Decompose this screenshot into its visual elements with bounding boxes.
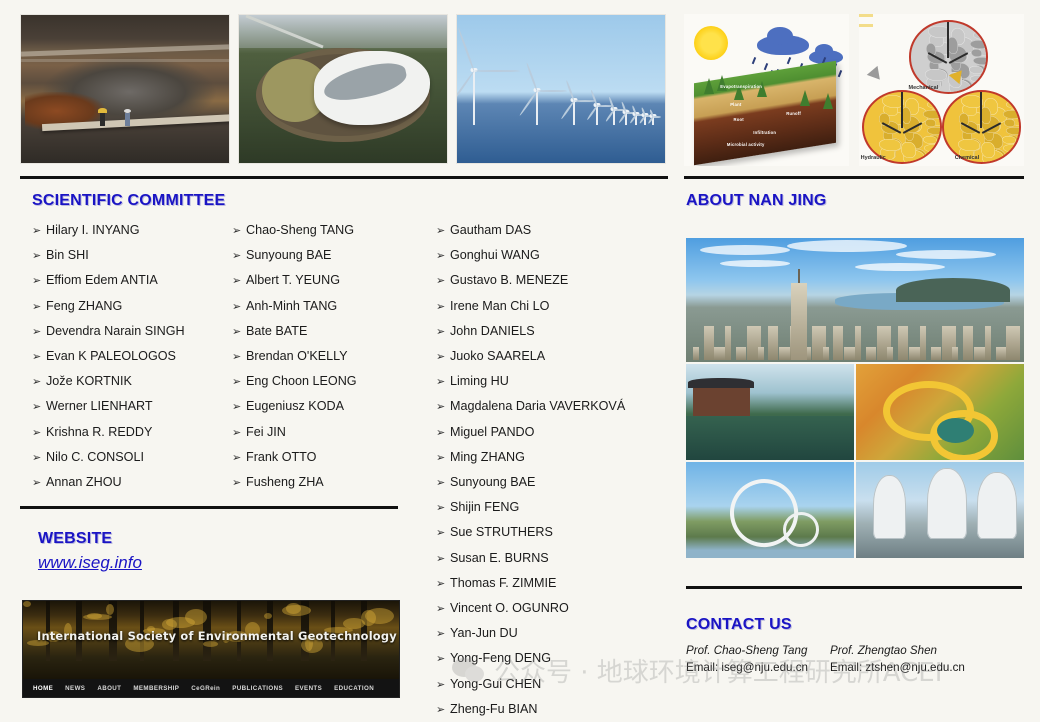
contact-name: Prof. Zhengtao Shen	[830, 642, 965, 659]
diagram-label: Root	[734, 117, 744, 122]
committee-member: ➢Irene Man Chi LO	[436, 294, 686, 319]
committee-member-name: Magdalena Daria VAVERKOVÁ	[450, 394, 625, 418]
committee-member-name: Brendan O'KELLY	[246, 344, 348, 368]
bullet-arrow-icon: ➢	[232, 345, 246, 369]
committee-member: ➢Chao-Sheng TANG	[232, 218, 432, 243]
arrow-icon	[859, 14, 873, 27]
committee-member-name: Bate BATE	[246, 319, 307, 343]
bullet-arrow-icon: ➢	[436, 547, 450, 571]
committee-member: ➢Fei JIN	[232, 420, 432, 445]
grain-particle	[969, 66, 983, 74]
grain-particle	[1006, 101, 1021, 109]
hydraulic-label: Hydraulic	[861, 155, 886, 161]
bullet-arrow-icon: ➢	[436, 345, 450, 369]
bullet-arrow-icon: ➢	[232, 421, 246, 445]
grain-particle	[864, 92, 875, 100]
about-nanjing-heading: ABOUT NAN JING	[686, 192, 827, 210]
diagram-label: Infiltration	[753, 130, 776, 135]
committee-member-name: Sue STRUTHERS	[450, 520, 553, 544]
committee-member-name: Krishna R. REDDY	[46, 420, 152, 444]
iseg-nav-item[interactable]: NEWS	[65, 685, 85, 692]
committee-column-2: ➢Chao-Sheng TANG➢Sunyoung BAE➢Albert T. …	[232, 218, 432, 495]
committee-member: ➢Bin SHI	[32, 243, 242, 268]
raindrop	[764, 63, 768, 70]
wind-turbine	[636, 115, 637, 125]
section-divider	[684, 176, 1024, 179]
crack-line	[947, 22, 949, 54]
contact-name: Prof. Chao-Sheng Tang	[686, 642, 808, 659]
bullet-arrow-icon: ➢	[436, 269, 450, 293]
hydrologic-cycle-diagram: EvapotranspirationPlantRootRunoffInfiltr…	[684, 14, 849, 166]
bullet-arrow-icon: ➢	[436, 572, 450, 596]
grain-particle	[927, 127, 943, 135]
committee-column-3: ➢Gautham DAS➢Gonghui WANG➢Gustavo B. MEN…	[436, 218, 686, 722]
wind-turbine	[625, 113, 626, 125]
tree-icon	[800, 90, 810, 106]
committee-member-name: Susan E. BURNS	[450, 546, 549, 570]
committee-member-name: Hilary I. INYANG	[46, 218, 140, 242]
soil-block	[694, 61, 836, 166]
grain-particle	[901, 142, 915, 159]
contact-email[interactable]: Email: iseg@nju.edu.cn	[686, 659, 808, 676]
committee-member-name: Devendra Narain SINGH	[46, 319, 185, 343]
committee-member: ➢Gautham DAS	[436, 218, 686, 243]
committee-member: ➢Anh-Minh TANG	[232, 294, 432, 319]
grain-particle	[923, 110, 941, 118]
grain-particle	[926, 93, 940, 101]
grain-particle	[1006, 127, 1022, 135]
committee-member-name: John DANIELS	[450, 319, 535, 343]
committee-member-name: Bin SHI	[46, 243, 89, 267]
building	[736, 347, 746, 359]
zifeng-tower	[791, 283, 807, 360]
committee-member-name: Yong-Feng DENG	[450, 646, 551, 670]
olympic-tower	[977, 472, 1017, 539]
grain-particle	[973, 57, 989, 65]
scientific-committee-heading: SCIENTIFIC COMMITTEE	[32, 192, 225, 210]
contact-email[interactable]: Email: ztshen@nju.edu.cn	[830, 659, 965, 676]
committee-member-name: Yong-Gui CHEN	[450, 672, 541, 696]
bullet-arrow-icon: ➢	[232, 471, 246, 495]
grain-particle	[1004, 119, 1015, 127]
bullet-arrow-icon: ➢	[436, 244, 450, 268]
grain-particle	[970, 40, 988, 48]
bullet-arrow-icon: ➢	[436, 295, 450, 319]
committee-member: ➢Miguel PANDO	[436, 420, 686, 445]
grain-particle	[1003, 110, 1021, 118]
contaminated-mine-site-photo	[20, 14, 230, 164]
chemical-label: Chemical	[955, 155, 979, 161]
committee-member: ➢Gonghui WANG	[436, 243, 686, 268]
bullet-arrow-icon: ➢	[32, 395, 46, 419]
cloud	[720, 260, 790, 267]
iseg-nav-item[interactable]: PUBLICATIONS	[232, 685, 283, 692]
committee-member: ➢Evan K PALEOLOGOS	[32, 344, 242, 369]
confucius-temple-river-photo	[686, 364, 854, 460]
bullet-arrow-icon: ➢	[436, 496, 450, 520]
committee-member: ➢Jože KORTNIK	[32, 369, 242, 394]
website-url-link[interactable]: www.iseg.info	[38, 553, 142, 573]
committee-member-name: Irene Man Chi LO	[450, 294, 549, 318]
bullet-arrow-icon: ➢	[436, 370, 450, 394]
olympic-tower	[927, 468, 967, 539]
building	[823, 347, 829, 359]
committee-member-name: Nilo C. CONSOLI	[46, 445, 144, 469]
iseg-nav-item[interactable]: CeGRein	[191, 685, 220, 692]
qinhuai-river	[686, 416, 854, 460]
contact-us-heading: CONTACT US	[686, 616, 792, 634]
bullet-arrow-icon: ➢	[232, 320, 246, 344]
bullet-arrow-icon: ➢	[436, 421, 450, 445]
lined-landfill-aerial-photo	[238, 14, 448, 164]
building	[855, 326, 861, 359]
committee-member-name: Albert T. YEUNG	[246, 268, 340, 292]
committee-member-name: Fusheng ZHA	[246, 470, 324, 494]
committee-member-name: Gonghui WANG	[450, 243, 540, 267]
grain-particle	[970, 75, 988, 83]
committee-member-name: Gautham DAS	[450, 218, 531, 242]
mechanical-label: Mechanical	[909, 85, 939, 91]
mechanical-circle	[909, 20, 989, 94]
committee-member: ➢Zheng-Fu BIAN	[436, 697, 686, 722]
bullet-arrow-icon: ➢	[232, 269, 246, 293]
bullet-arrow-icon: ➢	[232, 219, 246, 243]
committee-member: ➢Yan-Jun DU	[436, 621, 686, 646]
bullet-arrow-icon: ➢	[32, 295, 46, 319]
contact-card: Prof. Zhengtao Shen Email: ztshen@nju.ed…	[830, 642, 965, 676]
committee-member-name: Shijin FENG	[450, 495, 519, 519]
building	[866, 347, 876, 359]
committee-member-name: Frank OTTO	[246, 445, 316, 469]
bullet-arrow-icon: ➢	[32, 421, 46, 445]
building	[833, 326, 843, 359]
bullet-arrow-icon: ➢	[436, 521, 450, 545]
section-divider	[20, 506, 398, 509]
committee-member-name: Miguel PANDO	[450, 420, 534, 444]
committee-member-name: Ming ZHANG	[450, 445, 525, 469]
committee-member-name: Thomas F. ZIMMIE	[450, 571, 556, 595]
sun-icon	[694, 26, 728, 60]
website-heading: WEBSITE	[38, 530, 112, 548]
wind-turbine	[596, 106, 597, 125]
wind-turbine	[644, 116, 645, 125]
committee-member: ➢John DANIELS	[436, 319, 686, 344]
committee-column-1: ➢Hilary I. INYANG➢Bin SHI➢Effiom Edem AN…	[32, 218, 242, 495]
hydraulic-circle	[862, 90, 942, 164]
committee-member: ➢Sunyoung BAE	[232, 243, 432, 268]
building	[952, 347, 958, 359]
grain-particle	[1002, 136, 1016, 144]
bullet-arrow-icon: ➢	[32, 244, 46, 268]
raindrop	[752, 57, 756, 64]
bullet-arrow-icon: ➢	[436, 219, 450, 243]
committee-member-name: Sunyoung BAE	[246, 243, 331, 267]
committee-member: ➢Krishna R. REDDY	[32, 420, 242, 445]
committee-member: ➢Effiom Edem ANTIA	[32, 268, 242, 293]
weathering-mechanism-diagram: Mechanical Hydraulic Chemical	[859, 14, 1024, 166]
iseg-nav-item[interactable]: ABOUT	[97, 685, 121, 692]
bullet-arrow-icon: ➢	[32, 471, 46, 495]
chemical-circle	[942, 90, 1022, 164]
iseg-banner-title: International Society of Environmental G…	[37, 629, 397, 643]
grain-particle	[923, 136, 937, 144]
tree-icon	[823, 93, 833, 109]
bullet-arrow-icon: ➢	[436, 698, 450, 722]
bullet-arrow-icon: ➢	[232, 446, 246, 470]
crack-line	[980, 92, 982, 124]
iseg-nav-item[interactable]: HOME	[33, 685, 53, 692]
grain-particle	[924, 144, 942, 152]
building	[704, 326, 714, 359]
wind-turbine	[613, 110, 614, 125]
committee-member: ➢Vincent O. OGUNRO	[436, 596, 686, 621]
grain-particle	[927, 101, 942, 109]
grain-particle	[971, 49, 982, 57]
crack-line	[901, 92, 903, 124]
cloud	[700, 245, 790, 255]
foliage-blob	[87, 613, 102, 619]
grain-particle	[981, 142, 995, 159]
grain-particle	[925, 119, 936, 127]
committee-member: ➢Albert T. YEUNG	[232, 268, 432, 293]
nanjing-photo-collage	[686, 238, 1024, 558]
crack-line	[947, 53, 949, 59]
offshore-wind-farm-photo	[456, 14, 666, 164]
cloud	[896, 250, 996, 259]
committee-member-name: Eng Choon LEONG	[246, 369, 357, 393]
section-divider	[20, 176, 668, 179]
iseg-website-screenshot[interactable]: International Society of Environmental G…	[22, 600, 400, 698]
committee-member: ➢Liming HU	[436, 369, 686, 394]
arrow-icon	[867, 66, 885, 84]
diagram-label: Microbial activity	[727, 142, 765, 147]
contact-card: Prof. Chao-Sheng Tang Email: iseg@nju.ed…	[686, 642, 808, 676]
top-right-diagram-strip: EvapotranspirationPlantRootRunoffInfiltr…	[684, 14, 1024, 166]
committee-member-name: Vincent O. OGUNRO	[450, 596, 569, 620]
committee-member: ➢Devendra Narain SINGH	[32, 319, 242, 344]
grain-particle	[944, 92, 955, 100]
bullet-arrow-icon: ➢	[32, 345, 46, 369]
grain-particle	[973, 31, 988, 39]
bullet-arrow-icon: ➢	[32, 446, 46, 470]
bullet-arrow-icon: ➢	[436, 622, 450, 646]
committee-member: ➢Yong-Gui CHEN	[436, 672, 686, 697]
committee-member-name: Werner LIENHART	[46, 394, 153, 418]
diagram-label: Plant	[730, 102, 741, 107]
building	[996, 347, 1006, 359]
bullet-arrow-icon: ➢	[436, 395, 450, 419]
iseg-nav-bar[interactable]: HOMENEWSABOUTMEMBERSHIPCeGReinPUBLICATIO…	[23, 679, 399, 697]
committee-member-name: Zheng-Fu BIAN	[450, 697, 538, 721]
iseg-nav-item[interactable]: EVENTS	[295, 685, 322, 692]
bullet-arrow-icon: ➢	[436, 673, 450, 697]
committee-member-name: Yan-Jun DU	[450, 621, 518, 645]
committee-member-name: Chao-Sheng TANG	[246, 218, 354, 242]
diagram-label: Evapotranspiration	[720, 84, 762, 89]
mine-bench-band	[21, 59, 229, 62]
worker-figure	[125, 113, 130, 126]
building	[898, 326, 908, 359]
committee-member: ➢Annan ZHOU	[32, 470, 242, 495]
top-photo-strip	[20, 14, 666, 164]
committee-member: ➢Nilo C. CONSOLI	[32, 445, 242, 470]
building	[758, 347, 764, 359]
bullet-arrow-icon: ➢	[232, 370, 246, 394]
contact-list: Prof. Chao-Sheng Tang Email: iseg@nju.ed…	[686, 642, 1036, 676]
foliage-blob	[106, 604, 114, 615]
worker-figure	[100, 113, 105, 126]
cloud	[855, 263, 945, 271]
mine-bench-band	[21, 44, 229, 56]
cloud-icon	[757, 35, 809, 55]
committee-member: ➢Fusheng ZHA	[232, 470, 432, 495]
section-divider	[686, 586, 1022, 589]
committee-member: ➢Sunyoung BAE	[436, 470, 686, 495]
building	[693, 347, 699, 359]
poster-canvas: EvapotranspirationPlantRootRunoffInfiltr…	[0, 0, 1040, 720]
foliage-blob	[166, 617, 195, 628]
foliage-blob	[23, 601, 31, 607]
building	[725, 326, 731, 359]
committee-member-name: Annan ZHOU	[46, 470, 122, 494]
grain-particle	[1005, 93, 1019, 101]
bullet-arrow-icon: ➢	[436, 446, 450, 470]
committee-member: ➢Yong-Feng DENG	[436, 646, 686, 671]
grain-particle	[972, 23, 986, 31]
bullet-arrow-icon: ➢	[436, 320, 450, 344]
bullet-arrow-icon: ➢	[32, 370, 46, 394]
iseg-nav-item[interactable]: MEMBERSHIP	[133, 685, 179, 692]
bullet-arrow-icon: ➢	[232, 295, 246, 319]
committee-member: ➢Magdalena Daria VAVERKOVÁ	[436, 394, 686, 419]
committee-member-name: Feng ZHANG	[46, 294, 122, 318]
landfill-hills	[239, 15, 447, 48]
park-pond	[937, 418, 974, 443]
bullet-arrow-icon: ➢	[32, 219, 46, 243]
crack-line	[901, 123, 903, 129]
committee-member: ➢Shijin FENG	[436, 495, 686, 520]
bullet-arrow-icon: ➢	[436, 597, 450, 621]
iseg-nav-item[interactable]: EDUCATION	[334, 685, 374, 692]
crack-line	[980, 123, 982, 129]
building	[920, 326, 926, 359]
committee-member: ➢Bate BATE	[232, 319, 432, 344]
building	[887, 347, 893, 359]
committee-member-name: Eugeniusz KODA	[246, 394, 344, 418]
committee-member: ➢Hilary I. INYANG	[32, 218, 242, 243]
building	[963, 326, 973, 359]
wind-turbine	[653, 117, 654, 125]
committee-member-name: Liming HU	[450, 369, 509, 393]
wind-turbine	[573, 101, 574, 125]
bullet-arrow-icon: ➢	[232, 244, 246, 268]
autumn-park-aerial-photo	[856, 364, 1024, 460]
building	[768, 326, 778, 359]
raindrop	[838, 70, 842, 77]
committee-member: ➢Brendan O'KELLY	[232, 344, 432, 369]
committee-member: ➢Susan E. BURNS	[436, 546, 686, 571]
foliage-blob	[365, 608, 394, 624]
committee-member: ➢Feng ZHANG	[32, 294, 242, 319]
committee-member-name: Effiom Edem ANTIA	[46, 268, 158, 292]
committee-member: ➢Sue STRUTHERS	[436, 520, 686, 545]
temple-pavilion	[693, 385, 750, 418]
building	[1006, 326, 1020, 359]
raindrop	[787, 57, 791, 64]
bullet-arrow-icon: ➢	[32, 269, 46, 293]
wind-turbine	[474, 71, 475, 125]
nanjing-eye-bridge-photo	[686, 462, 854, 558]
committee-member-name: Fei JIN	[246, 420, 286, 444]
committee-member-name: Sunyoung BAE	[450, 470, 535, 494]
bullet-arrow-icon: ➢	[436, 471, 450, 495]
committee-member: ➢Ming ZHANG	[436, 445, 686, 470]
bullet-arrow-icon: ➢	[232, 395, 246, 419]
purple-mountain	[896, 278, 1011, 303]
wind-turbine	[536, 91, 537, 125]
committee-member-name: Juoko SAARELA	[450, 344, 545, 368]
committee-member: ➢Eugeniusz KODA	[232, 394, 432, 419]
committee-member-name: Evan K PALEOLOGOS	[46, 344, 176, 368]
building	[931, 347, 941, 359]
committee-member: ➢Gustavo B. MENEZE	[436, 268, 686, 293]
committee-member: ➢Eng Choon LEONG	[232, 369, 432, 394]
bullet-arrow-icon: ➢	[436, 647, 450, 671]
committee-member: ➢Werner LIENHART	[32, 394, 242, 419]
committee-member-name: Jože KORTNIK	[46, 369, 132, 393]
nanjing-skyline-photo	[686, 238, 1024, 362]
bullet-arrow-icon: ➢	[32, 320, 46, 344]
building	[985, 326, 991, 359]
committee-member: ➢Thomas F. ZIMMIE	[436, 571, 686, 596]
grain-particle	[911, 22, 922, 30]
grain-particle	[1003, 144, 1021, 152]
committee-member: ➢Juoko SAARELA	[436, 344, 686, 369]
olympic-tower	[873, 475, 907, 538]
cloud	[787, 240, 907, 252]
committee-member-name: Gustavo B. MENEZE	[450, 268, 568, 292]
youth-olympic-center-photo	[856, 462, 1024, 558]
committee-member: ➢Frank OTTO	[232, 445, 432, 470]
diagram-label: Runoff	[786, 111, 801, 116]
tree-icon	[704, 78, 714, 94]
committee-member-name: Anh-Minh TANG	[246, 294, 337, 318]
